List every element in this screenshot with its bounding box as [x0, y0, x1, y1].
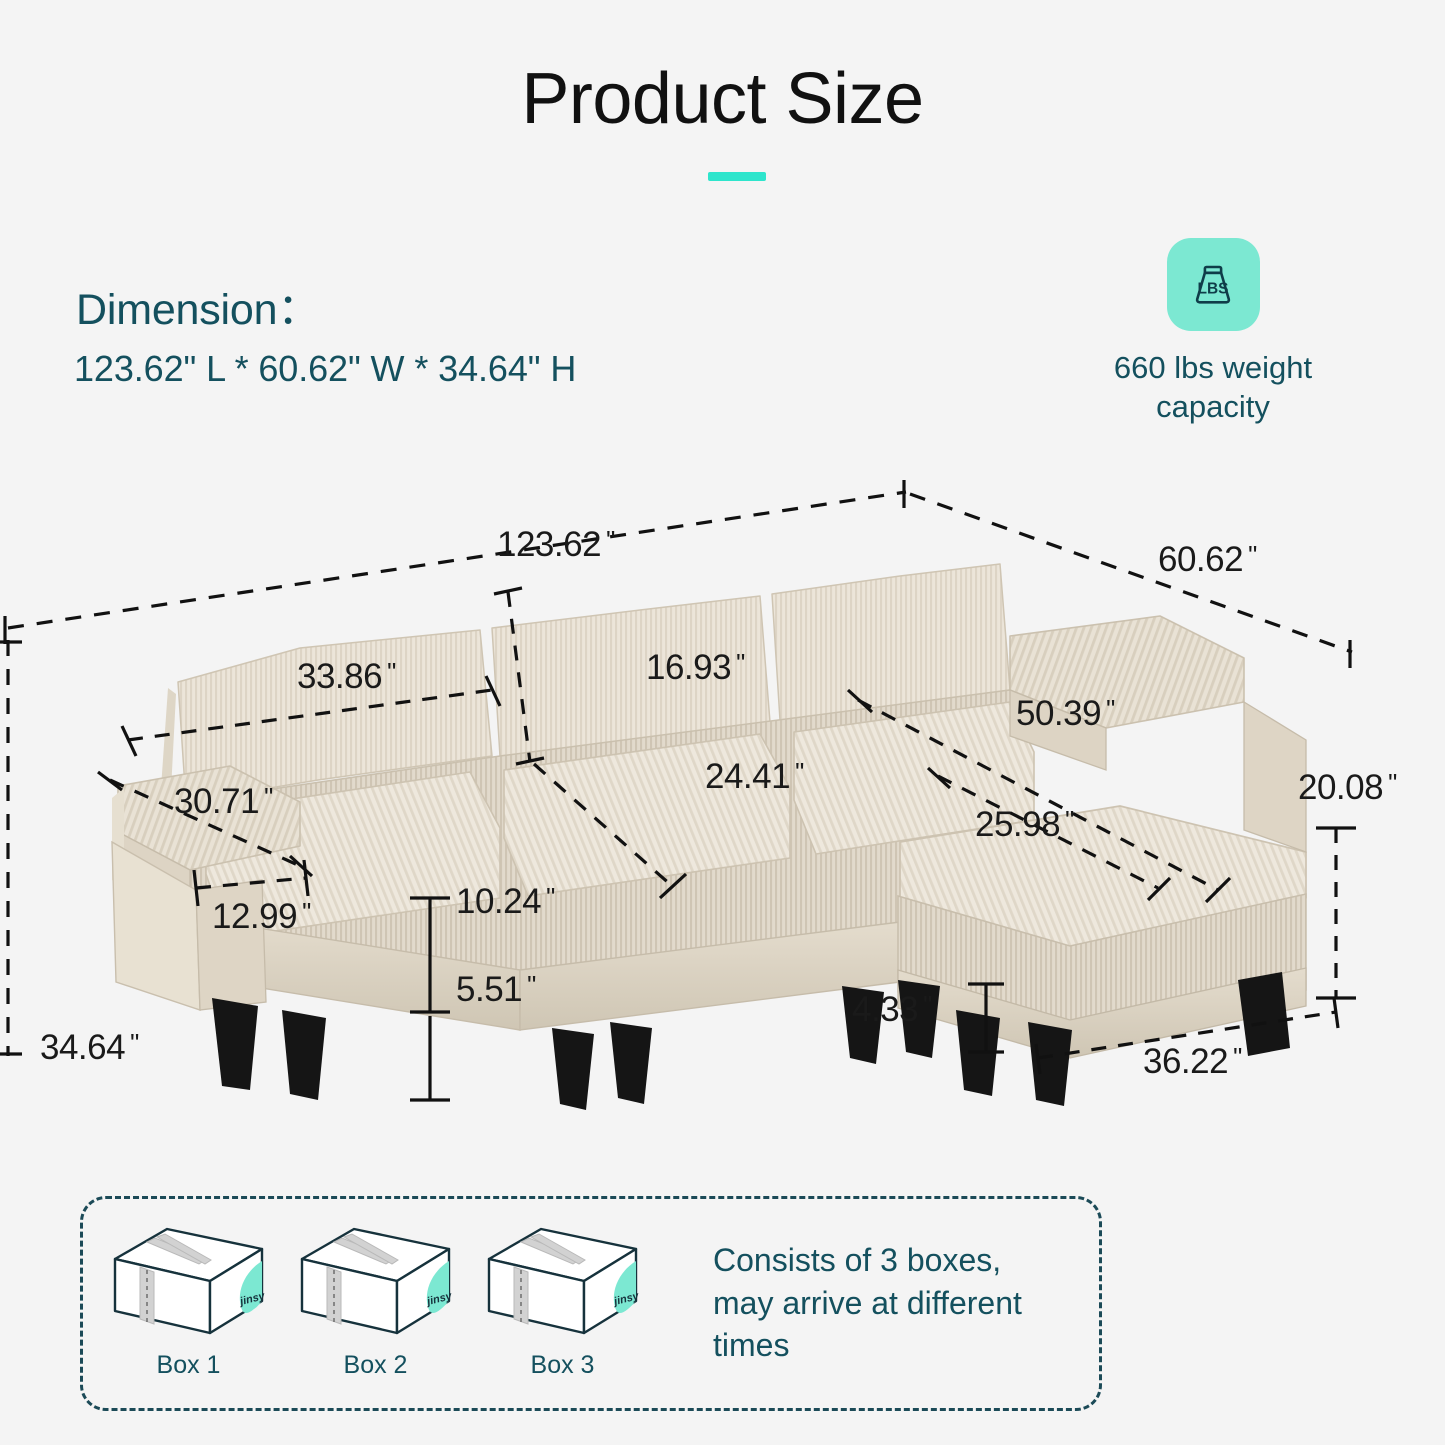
shipping-box-icon: jinsy [294, 1215, 457, 1340]
label-overall-height: 34.64" [40, 1028, 139, 1068]
label-armrest-length: 30.71" [174, 782, 273, 822]
product-size-infographic: Product Size Dimension： 123.62" L * 60.6… [0, 0, 1445, 1445]
lbs-icon-text: LBS [1198, 280, 1229, 297]
label-chaise-height: 20.08" [1298, 768, 1397, 808]
box-item: jinsy Box 1 [107, 1215, 270, 1380]
dimline-overall-length [5, 480, 906, 644]
shipping-box-icon: jinsy [481, 1215, 644, 1340]
packaging-note: Consists of 3 boxes, may arrive at diffe… [713, 1239, 1022, 1367]
sofa-body [112, 564, 1306, 1110]
packaging-panel: jinsy Box 1 jinsy Box 2 [80, 1196, 1102, 1411]
box-item: jinsy Box 2 [294, 1215, 457, 1380]
weight-capacity-block: LBS 660 lbs weight capacity [1068, 238, 1358, 427]
label-overall-depth: 60.62" [1158, 540, 1257, 580]
packaging-note-line3: times [713, 1324, 1022, 1367]
label-overall-length: 123.62" [497, 525, 615, 565]
page-title: Product Size [0, 62, 1445, 138]
shipping-box-icon: jinsy [107, 1215, 270, 1340]
weight-capacity-text: 660 lbs weight capacity [1068, 348, 1358, 427]
lbs-weight-icon: LBS [1184, 256, 1242, 314]
label-seat-depth: 24.41" [705, 757, 804, 797]
weight-capacity-line1: 660 lbs weight [1068, 348, 1358, 387]
box-label: Box 1 [107, 1351, 270, 1380]
dimline-base-height [410, 1016, 450, 1100]
dimline-overall-height [0, 640, 22, 1056]
packaging-note-line2: may arrive at different [713, 1282, 1022, 1325]
product-diagram: 123.62" 60.62" 34.64" 33.86" 16.93" 24.4… [0, 450, 1445, 1150]
box-label: Box 2 [294, 1351, 457, 1380]
label-armrest-width: 12.99" [212, 897, 311, 937]
weight-capacity-line2: capacity [1068, 387, 1358, 426]
packaging-note-line1: Consists of 3 boxes, [713, 1239, 1022, 1282]
title-accent-underline [708, 172, 766, 181]
box-item: jinsy Box 3 [481, 1215, 644, 1380]
label-chaise-width: 36.22" [1143, 1042, 1242, 1082]
label-base-height: 5.51" [456, 970, 536, 1010]
dimension-value: 123.62" L * 60.62" W * 34.64" H [74, 348, 576, 390]
box-list: jinsy Box 1 jinsy Box 2 [107, 1215, 644, 1380]
label-back-cushion-height: 16.93" [646, 648, 745, 688]
label-leg-height: 4.33" [852, 990, 932, 1030]
label-seat-back-width: 33.86" [297, 657, 396, 697]
weight-badge: LBS [1167, 238, 1260, 331]
label-chaise-length: 50.39" [1016, 694, 1115, 734]
label-seat-height: 10.24" [456, 882, 555, 922]
label-chaise-cushion-depth: 25.98" [975, 805, 1074, 845]
box-label: Box 3 [481, 1351, 644, 1380]
dimension-heading: Dimension： [76, 275, 320, 337]
dimline-chaise-height [1316, 828, 1356, 998]
